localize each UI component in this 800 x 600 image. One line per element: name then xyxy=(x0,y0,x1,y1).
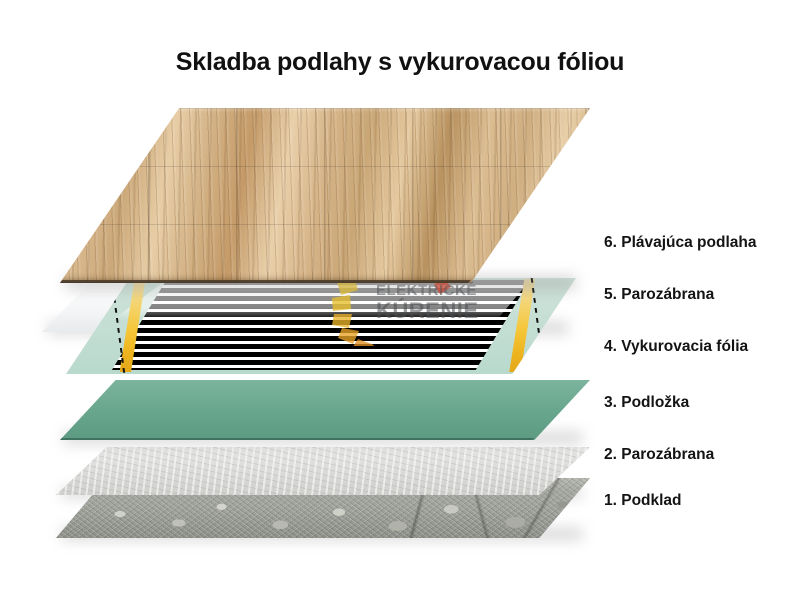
layer-label-list: 6. Plávajúca podlaha 5. Parozábrana 4. V… xyxy=(604,0,800,600)
vapour-barrier-sheet-texture xyxy=(56,447,590,495)
layer-label-3: 3. Podložka xyxy=(604,394,689,412)
layer-label-2: 2. Parozábrana xyxy=(604,446,714,464)
layer-2-parozabrana xyxy=(56,447,590,495)
wood-plank-texture xyxy=(60,108,590,283)
underlay-surface xyxy=(60,380,590,440)
layer-label-6: 6. Plávajúca podlaha xyxy=(604,234,756,252)
layer-4-vykurovacia-folia xyxy=(66,278,576,374)
layer-label-4: 4. Vykurovacia fólia xyxy=(604,338,748,356)
layer-label-1: 1. Podklad xyxy=(604,492,682,510)
layer-label-5: 5. Parozábrana xyxy=(604,286,714,304)
layer-3-podlozka xyxy=(60,380,590,440)
layer-6-plavajuca-podlaha xyxy=(60,108,590,283)
